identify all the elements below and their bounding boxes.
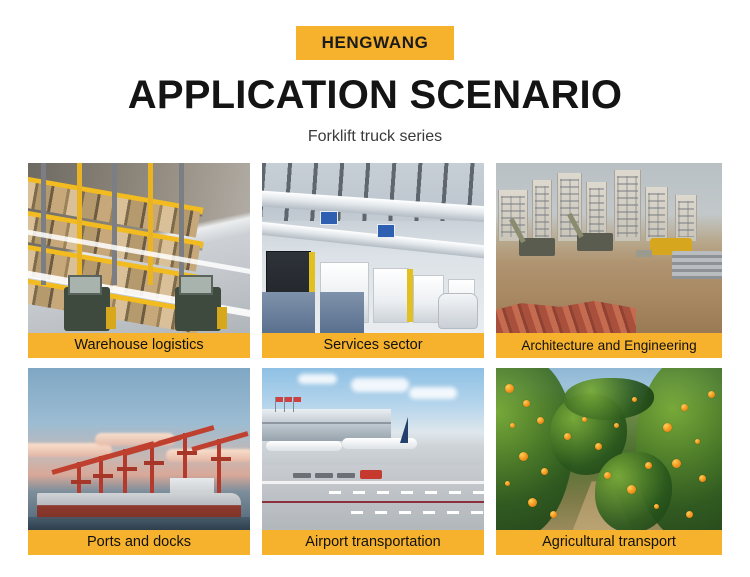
scenario-card-architecture-engineering[interactable]: Architecture and Engineering (496, 163, 722, 358)
scenario-caption: Airport transportation (262, 530, 484, 555)
application-scenario-banner: HENGWANG APPLICATION SCENARIO Forklift t… (0, 0, 750, 577)
scenario-card-airport-transportation[interactable]: Airport transportation (262, 368, 484, 555)
scenario-caption: Ports and docks (28, 530, 250, 555)
brand-badge: HENGWANG (296, 26, 455, 60)
orange-orchard-photo (496, 368, 722, 530)
page-title: APPLICATION SCENARIO (0, 74, 750, 116)
warehouse-aisle-photo (28, 163, 250, 333)
scenario-caption: Architecture and Engineering (496, 333, 722, 358)
scenario-caption: Warehouse logistics (28, 333, 250, 358)
scenario-card-agricultural-transport[interactable]: Agricultural transport (496, 368, 722, 555)
scenario-grid: Warehouse logistics Services sector (28, 163, 722, 555)
scenario-caption: Agricultural transport (496, 530, 722, 555)
page-subtitle: Forklift truck series (0, 128, 750, 146)
factory-production-line-photo (262, 163, 484, 333)
scenario-card-ports-docks[interactable]: Ports and docks (28, 368, 250, 555)
scenario-card-services-sector[interactable]: Services sector (262, 163, 484, 358)
airport-apron-photo (262, 368, 484, 530)
scenario-card-warehouse-logistics[interactable]: Warehouse logistics (28, 163, 250, 358)
scenario-caption: Services sector (262, 333, 484, 358)
banner-header: HENGWANG APPLICATION SCENARIO Forklift t… (0, 0, 750, 146)
construction-site-photo (496, 163, 722, 333)
port-cranes-photo (28, 368, 250, 530)
